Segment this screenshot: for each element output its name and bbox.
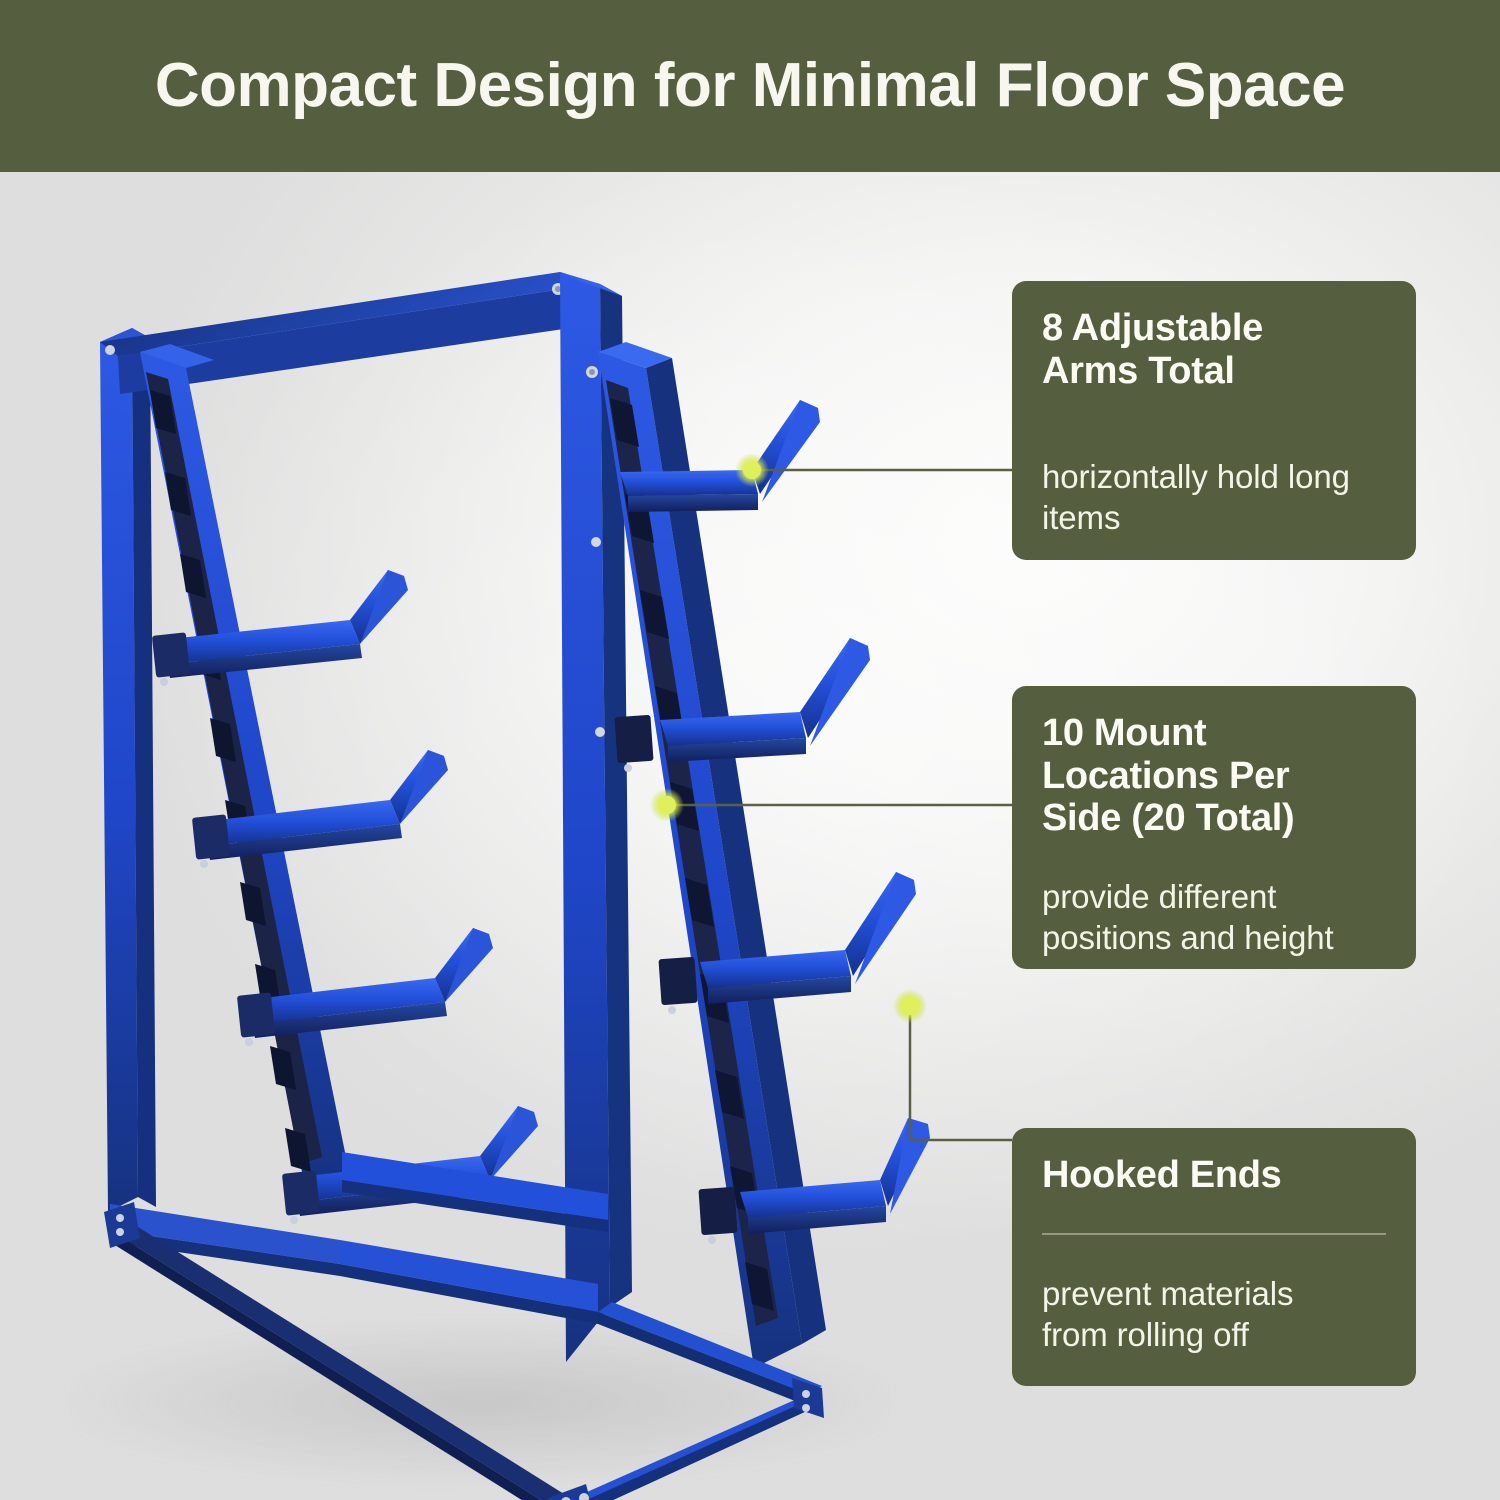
rack-angled-upright-left bbox=[140, 344, 350, 1192]
rack-base-frame bbox=[104, 1202, 824, 1500]
callout-body-mount-locations: provide different positions and height bbox=[1042, 876, 1386, 959]
callout-card-adjustable-arms[interactable]: 8 Adjustable Arms Total horizontally hol… bbox=[1012, 281, 1416, 560]
callout-title-adjustable-arms: 8 Adjustable Arms Total bbox=[1042, 307, 1386, 392]
callout-divider-3 bbox=[1042, 1233, 1386, 1235]
callout-body-hooked-ends: prevent materials from rolling off bbox=[1042, 1273, 1386, 1356]
infographic-canvas: Compact Design for Minimal Floor Space bbox=[0, 0, 1500, 1500]
callout-body-adjustable-arms: horizontally hold long items bbox=[1042, 456, 1386, 539]
header-banner: Compact Design for Minimal Floor Space bbox=[0, 0, 1500, 172]
page-title: Compact Design for Minimal Floor Space bbox=[155, 55, 1345, 117]
rack-back-left-post bbox=[100, 328, 156, 1212]
callout-title-mount-locations: 10 Mount Locations Per Side (20 Total) bbox=[1042, 712, 1386, 840]
callout-card-mount-locations[interactable]: 10 Mount Locations Per Side (20 Total) p… bbox=[1012, 686, 1416, 969]
callout-title-hooked-ends: Hooked Ends bbox=[1042, 1154, 1386, 1197]
callout-card-hooked-ends[interactable]: Hooked Ends prevent materials from rolli… bbox=[1012, 1128, 1416, 1386]
